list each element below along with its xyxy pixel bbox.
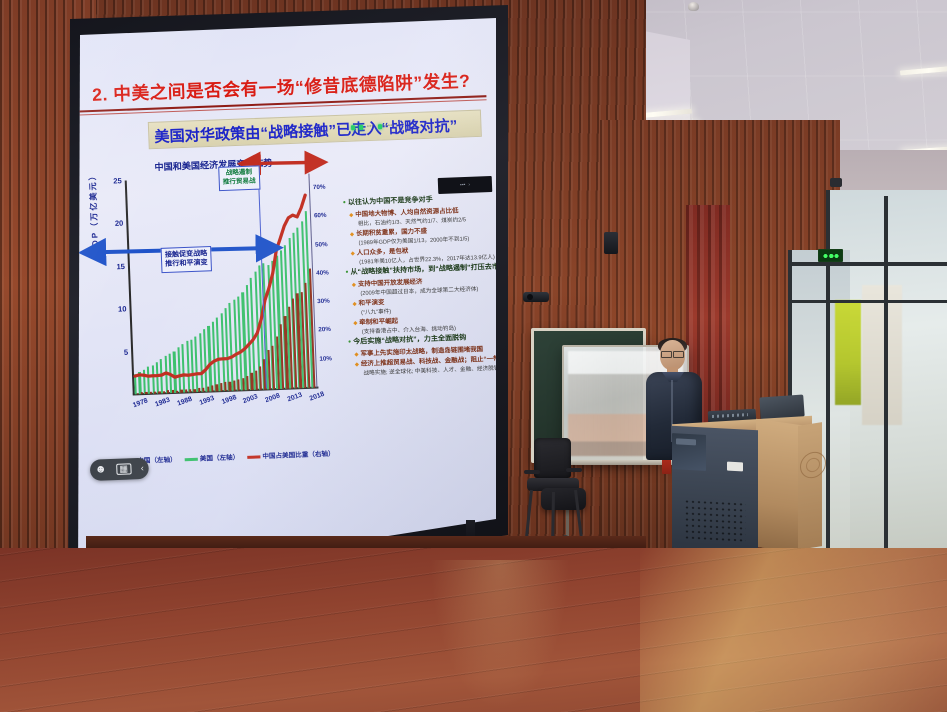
badge-chevron-icon: › <box>468 182 470 188</box>
podium-printer[interactable] <box>672 433 706 471</box>
chart-ratio-line <box>126 174 318 395</box>
bezel-label-left: ••• <box>367 123 374 129</box>
chart-xtick: 1988 <box>176 396 193 408</box>
led-indicator-3 <box>378 124 382 129</box>
chart-y2tick: 30% <box>317 298 330 306</box>
ceiling-sprinkler-1 <box>688 2 699 11</box>
exit-sign-icon <box>818 249 843 262</box>
display-screen[interactable]: 2. 中美之间是否会有一场“修昔底德陷阱”发生? 美国对华政策由“战略接触”已走… <box>56 5 508 605</box>
office-chair-arm-right <box>566 468 582 472</box>
bezel-label-right: ••• <box>386 123 393 129</box>
floor-sunlight-patch <box>640 548 947 712</box>
wall-speaker-icon <box>604 232 618 254</box>
led-indicator-1 <box>351 125 355 130</box>
podium-side-panel <box>756 419 802 553</box>
office-chair-arm-left <box>524 470 540 474</box>
window-transom-1 <box>788 262 947 266</box>
led-indicator-2 <box>359 124 363 129</box>
chart-ytick: 25 <box>113 176 122 185</box>
smiley-icon[interactable]: ☻ <box>95 464 107 476</box>
chart-y2tick: 20% <box>318 326 331 334</box>
black-bag <box>541 488 586 510</box>
chart-legend: 中国（左轴） 美国（左轴） 中国占美国比重（右轴） <box>122 448 335 466</box>
chart-xtick: 2018 <box>309 391 326 403</box>
slide-annotation-toolbar[interactable]: ☻ ▦ ‹ <box>90 458 149 481</box>
outdoor-foliage <box>835 300 861 405</box>
legend-item-usa: 美国（左轴） <box>184 451 239 463</box>
annotation-red-box: 战略遏制推行贸易战 <box>218 165 260 190</box>
chart-y2tick: 50% <box>315 241 328 249</box>
window-mullion-v2 <box>884 196 888 590</box>
chart-ytick: 10 <box>118 304 127 313</box>
chart-y2tick: 40% <box>316 269 329 277</box>
chart-plot-area <box>126 174 318 395</box>
chart-y2tick: 60% <box>314 212 327 220</box>
chart-xtick: 1983 <box>154 397 171 409</box>
annotation-blue-box: 接触促变战略推行和平演变 <box>161 246 212 273</box>
badge-text: ▪▪▪ <box>460 182 466 188</box>
presentation-slide: 2. 中美之间是否会有一场“修昔底德陷阱”发生? 美国对华政策由“战略接触”已走… <box>56 5 508 605</box>
chart-y2tick: 70% <box>313 184 326 192</box>
screen-surface[interactable]: 2. 中美之间是否会有一场“修昔底德陷阱”发生? 美国对华政策由“战略接触”已走… <box>56 5 508 605</box>
podium-name-plate <box>727 462 743 472</box>
slide-bullet-list: 以往认为中国不是竞争对手中国地大物博、人均自然资源占比低相比，石油约1/3、天然… <box>343 192 508 379</box>
gdp-comparison-chart: GDP（万亿美元） 510152025 10%20%30%40%50%60%70… <box>89 166 351 443</box>
screen-corner-badge: ▪▪▪ › <box>438 176 493 194</box>
red-containment-arrow <box>254 145 316 178</box>
chart-xtick: 2008 <box>265 392 282 404</box>
glasses-icon <box>660 351 685 356</box>
legend-item-ratio: 中国占美国比重（右轴） <box>247 448 335 461</box>
floor-glow <box>430 560 570 710</box>
chart-xtick: 1998 <box>220 394 237 406</box>
chart-ytick: 20 <box>115 219 124 228</box>
outdoor-building <box>862 285 902 425</box>
wall-sensor-icon <box>830 178 842 187</box>
annotate-icon[interactable]: ▦ <box>116 463 131 475</box>
chart-xtick: 1978 <box>132 397 149 409</box>
window-transom-2 <box>788 300 947 303</box>
chart-y2tick: 10% <box>319 355 332 363</box>
chart-xtick: 2013 <box>287 392 304 404</box>
chart-ytick: 5 <box>124 347 129 356</box>
chart-xtick: 2003 <box>242 393 259 405</box>
ceiling-camera-icon <box>523 292 549 302</box>
podium-vent-grille <box>684 498 746 543</box>
lecture-hall-scene: 2. 中美之间是否会有一场“修昔底德陷阱”发生? 美国对华政策由“战略接触”已走… <box>0 0 947 712</box>
podium-side-panel-far <box>798 422 822 550</box>
chevron-left-icon[interactable]: ‹ <box>141 464 144 473</box>
chart-xtick: 1993 <box>198 395 215 407</box>
